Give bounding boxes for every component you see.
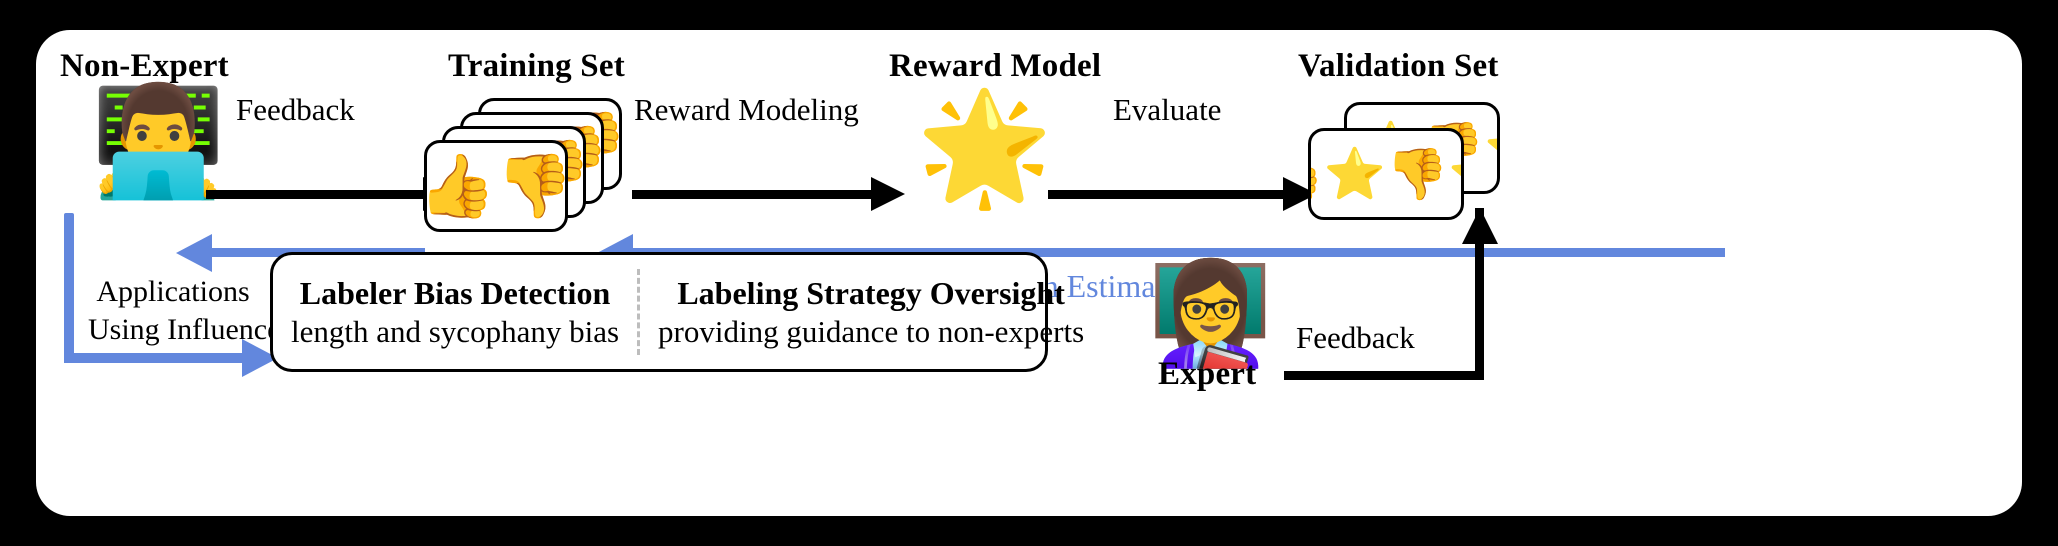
arrow-shaft — [206, 190, 424, 199]
arrow-shaft-vertical — [64, 213, 74, 363]
application-heading: Labeling Strategy Oversight — [658, 274, 1084, 313]
arrow-feedback-nonexpert-to-training — [206, 190, 424, 199]
woman-teacher-icon: 👩‍🏫 — [1148, 264, 1273, 364]
glowing-star-icon: 🌟 — [916, 92, 1053, 202]
node-title-training-set: Training Set — [448, 48, 625, 85]
edge-label-evaluate: Evaluate — [1113, 92, 1221, 128]
card-stack-training-set: 👍👎 👍👎 👍👎 👍👎 — [424, 98, 624, 233]
application-subtitle: length and sycophany bias — [291, 313, 619, 351]
figure-canvas: Non-Expert Training Set Reward Model Val… — [0, 0, 2058, 546]
applications-line-1: Applications — [88, 273, 258, 311]
arrow-reward-modeling — [632, 190, 872, 199]
arrow-shaft-horizontal — [1284, 371, 1484, 380]
node-title-expert: Expert — [1158, 356, 1256, 393]
applications-box: Labeler Bias Detection length and sycoph… — [270, 252, 1048, 372]
person-with-laptop-icon: 👨‍💻 — [91, 88, 225, 196]
arrow-shaft-horizontal — [64, 353, 244, 363]
edge-label-feedback-top: Feedback — [236, 92, 355, 128]
application-column-labeler-bias-detection: Labeler Bias Detection length and sycoph… — [273, 274, 637, 351]
application-column-labeling-strategy-oversight: Labeling Strategy Oversight providing gu… — [640, 274, 1102, 351]
arrow-shaft — [632, 190, 872, 199]
node-title-validation-set: Validation Set — [1298, 48, 1499, 85]
application-subtitle: providing guidance to non-experts — [658, 313, 1084, 351]
node-title-reward-model: Reward Model — [889, 48, 1101, 85]
arrow-shaft — [1048, 190, 1284, 199]
arrow-head — [1462, 208, 1498, 244]
diagram-panel: Non-Expert Training Set Reward Model Val… — [36, 30, 2022, 516]
card-1: 👍👎 — [424, 140, 568, 232]
arrow-feedback-expert-to-validation — [1284, 208, 1484, 380]
card-faces: 👍⭐👎⭐ — [1308, 149, 1464, 199]
application-heading: Labeler Bias Detection — [291, 274, 619, 313]
edge-label-reward-modeling: Reward Modeling — [634, 92, 859, 128]
applications-line-2: Using Influence — [88, 311, 258, 349]
card-1: 👍⭐👎⭐ — [1308, 128, 1464, 220]
edge-label-applications-using-influence: Applications Using Influence — [88, 273, 258, 348]
arrow-evaluate — [1048, 190, 1284, 199]
card-faces: 👍👎 — [424, 155, 568, 217]
arrow-head — [871, 177, 905, 211]
